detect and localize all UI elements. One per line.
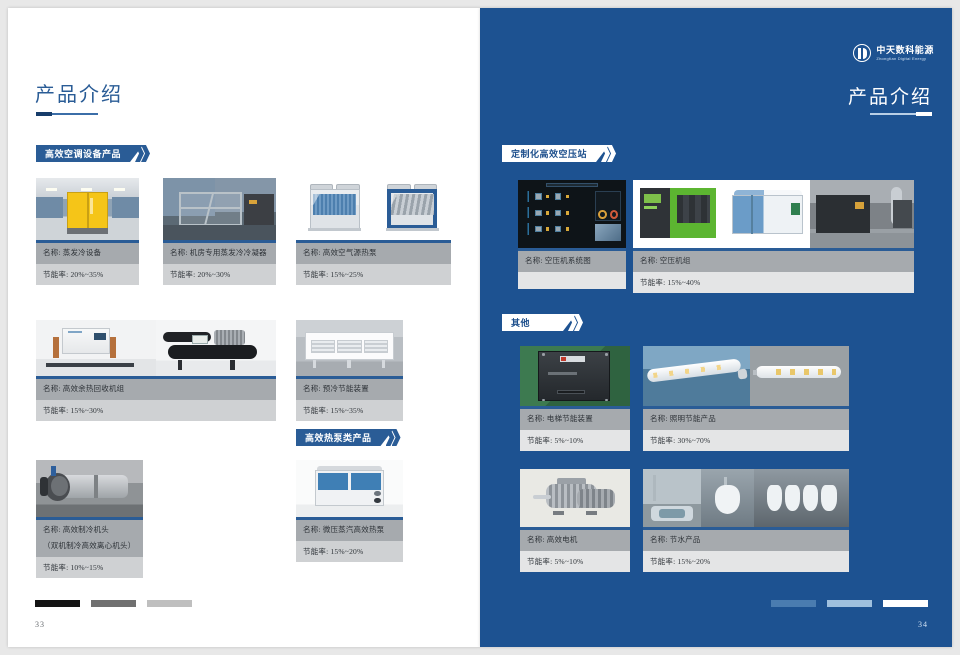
left-footer: 33	[35, 620, 45, 629]
product-card[interactable]: 名称: 高效空气源热泵 节能率: 15%~25%	[296, 178, 451, 285]
section-banner-hvac: 高效空调设备产品	[36, 145, 150, 162]
product-card[interactable]: 名称: 高效制冷机头 （双机制冷高效离心机头） 节能率: 10%~15%	[36, 460, 143, 578]
logo-text-en: Zhongtian Digital Energy	[876, 57, 934, 61]
left-page: 产品介绍 高效空调设备产品 名称: 蒸发冷设备 节能率: 20%~35%	[8, 8, 480, 647]
product-card[interactable]: 名称: 蒸发冷设备 节能率: 20%~35%	[36, 178, 139, 285]
product-name: 名称: 高效制冷机头	[36, 520, 143, 541]
section-banner-hvac-label: 高效空调设备产品	[36, 145, 143, 162]
product-rate: 节能率: 15%~20%	[296, 541, 403, 562]
product-card[interactable]: 名称: 高效电机 节能率: 5%~10%	[520, 469, 630, 572]
product-name: 名称: 预冷节能装置	[296, 379, 403, 400]
progress-bar-segment	[883, 600, 928, 607]
product-rate: 节能率: 10%~15%	[36, 557, 143, 578]
product-rate: 节能率: 20%~30%	[163, 264, 276, 285]
product-name: 名称: 空压机系统图	[518, 251, 626, 272]
product-name: 名称: 蒸发冷设备	[36, 243, 139, 264]
product-name: 名称: 微压蒸汽高效热泵	[296, 520, 403, 541]
product-photo	[296, 460, 403, 517]
product-photo	[520, 469, 630, 527]
section-banner-heatpump-label: 高效热泵类产品	[296, 429, 394, 446]
product-photo	[36, 460, 143, 517]
product-card[interactable]: 名称: 微压蒸汽高效热泵 节能率: 15%~20%	[296, 460, 403, 562]
product-card[interactable]: 名称: 空压机系统图	[518, 180, 626, 289]
product-name: 名称: 高效电机	[520, 530, 630, 551]
product-rate: 节能率: 30%~70%	[643, 430, 849, 451]
zhongtian-logo-icon	[853, 44, 871, 62]
left-page-number: 33	[35, 620, 45, 629]
product-rate: 节能率: 20%~35%	[36, 264, 139, 285]
product-rate: 节能率: 15%~35%	[296, 400, 403, 421]
product-photo	[296, 320, 403, 376]
right-progress-bars	[771, 600, 928, 607]
right-footer: 34	[918, 620, 928, 629]
right-page: 中天数科能源 Zhongtian Digital Energy 产品介绍 定制化…	[480, 8, 952, 647]
product-card[interactable]: 名称: 空压机组 节能率: 15%~40%	[633, 180, 914, 293]
product-name: 名称: 机房专用蒸发冷冷凝器	[163, 243, 276, 264]
progress-bar-segment	[147, 600, 192, 607]
product-name: 名称: 高效余热回收机组	[36, 379, 276, 400]
right-title-rule	[870, 112, 932, 116]
product-rate: 节能率: 15%~20%	[643, 551, 849, 572]
product-photo	[643, 469, 849, 527]
product-card[interactable]: 名称: 高效余热回收机组 节能率: 15%~30%	[36, 320, 276, 421]
product-rate: 节能率: 5%~10%	[520, 430, 630, 451]
section-banner-heatpump: 高效热泵类产品	[296, 429, 401, 446]
logo-text-cn: 中天数科能源	[876, 46, 934, 55]
product-name: 名称: 照明节能产品	[643, 409, 849, 430]
product-name: 名称: 电梯节能装置	[520, 409, 630, 430]
product-card[interactable]: 名称: 电梯节能装置 节能率: 5%~10%	[520, 346, 630, 451]
product-photo	[163, 178, 276, 240]
right-page-number: 34	[918, 620, 928, 629]
product-card[interactable]: 名称: 预冷节能装置 节能率: 15%~35%	[296, 320, 403, 421]
product-name: 名称: 高效空气源热泵	[296, 243, 451, 264]
product-photo	[296, 178, 451, 240]
product-name: 名称: 节水产品	[643, 530, 849, 551]
product-card[interactable]: 名称: 节水产品 节能率: 15%~20%	[643, 469, 849, 572]
product-rate: 节能率: 15%~40%	[633, 272, 914, 293]
product-card[interactable]: 名称: 机房专用蒸发冷冷凝器 节能率: 20%~30%	[163, 178, 276, 285]
section-banner-other: 其他	[502, 314, 583, 331]
brochure-spread: 产品介绍 高效空调设备产品 名称: 蒸发冷设备 节能率: 20%~35%	[0, 0, 960, 655]
product-photo	[518, 180, 626, 248]
progress-bar-segment	[827, 600, 872, 607]
progress-bar-segment	[91, 600, 136, 607]
product-photo	[36, 178, 139, 240]
product-photo	[643, 346, 849, 406]
product-rate	[518, 272, 626, 289]
left-title-rule	[36, 112, 98, 116]
product-name-secondary: （双机制冷高效离心机头）	[36, 541, 143, 557]
product-card[interactable]: 名称: 照明节能产品 节能率: 30%~70%	[643, 346, 849, 451]
section-banner-air-compressor: 定制化高效空压站	[502, 145, 616, 162]
progress-bar-segment	[771, 600, 816, 607]
product-name: 名称: 空压机组	[633, 251, 914, 272]
left-progress-bars	[35, 600, 192, 607]
product-photo	[36, 320, 276, 376]
progress-bar-segment	[35, 600, 80, 607]
section-banner-other-label: 其他	[502, 314, 576, 331]
product-rate: 节能率: 5%~10%	[520, 551, 630, 572]
left-page-title: 产品介绍	[35, 78, 123, 107]
right-page-title: 产品介绍	[848, 82, 932, 109]
section-banner-air-compressor-label: 定制化高效空压站	[502, 145, 609, 162]
product-photo	[520, 346, 630, 406]
product-rate: 节能率: 15%~30%	[36, 400, 276, 421]
product-photo	[633, 180, 914, 248]
company-logo: 中天数科能源 Zhongtian Digital Energy	[853, 44, 934, 62]
product-rate: 节能率: 15%~25%	[296, 264, 451, 285]
